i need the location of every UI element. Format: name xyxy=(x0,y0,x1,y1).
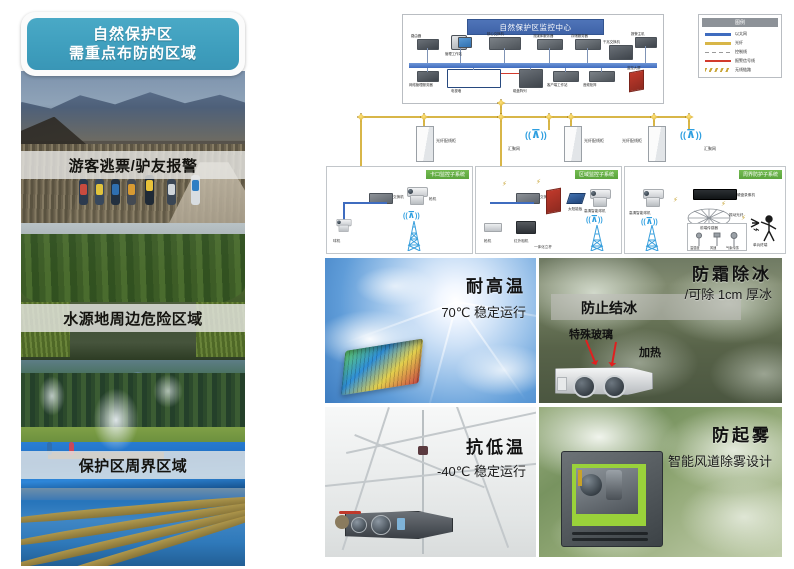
alarm-host-icon xyxy=(635,37,657,48)
hiker-figure xyxy=(79,179,88,205)
wireless-link-icon: ⚡ xyxy=(673,197,678,204)
legend-item: 光纤 xyxy=(705,39,743,47)
device-label: 太阳能板 xyxy=(568,207,582,212)
wireless-link-icon: ⚡ xyxy=(721,201,726,208)
wireless-link-icon: ⚡ xyxy=(741,215,746,222)
feature-title: 防霜除冰 xyxy=(692,260,772,285)
monitor-icon xyxy=(458,37,472,48)
subsystem-header: 区域监控子系统 xyxy=(575,170,618,179)
feature-title: 耐高温 xyxy=(466,272,526,297)
fiber-backbone xyxy=(360,116,548,118)
relay-label: 汇聚网 xyxy=(704,146,716,152)
annotation-anti-icing: 防止结冰 xyxy=(581,298,637,318)
ethernet-link xyxy=(343,202,345,220)
hiker-figure xyxy=(145,175,154,205)
device-label: 电视墙 xyxy=(451,88,461,93)
annotation-special-glass: 特殊玻璃 xyxy=(569,326,613,342)
video-platform-icon xyxy=(609,45,633,60)
solar-panel-icon xyxy=(566,193,586,204)
device-label: 球机 xyxy=(333,239,340,244)
sensor-group-box: 前端传感器 温湿度 风速 气象传感 xyxy=(687,223,747,251)
ethernet-backbone-bar xyxy=(409,63,657,68)
relay-label: 汇聚网 xyxy=(508,146,520,152)
device-label: 交换机 xyxy=(393,195,404,200)
hiker-figure xyxy=(191,175,200,205)
feature-title: 抗低温 xyxy=(466,433,526,458)
solar-mount-icon xyxy=(546,188,561,215)
caption-text: 游客逃票/驴友报警 xyxy=(69,155,198,176)
cloud xyxy=(355,266,435,306)
fiber-cabinet xyxy=(648,126,666,162)
control-line-icon xyxy=(705,52,731,53)
title-line-1: 自然保护区 xyxy=(93,25,173,44)
legend-item: 无线链路 xyxy=(705,66,751,74)
device-label: 网络管理服务器 xyxy=(409,82,433,87)
device-label: 红外相机 xyxy=(514,239,528,244)
ethernet-link xyxy=(490,202,534,204)
fiber-splice-node xyxy=(650,113,659,122)
fiber-splice-node xyxy=(420,113,429,122)
diagram-legend: 图例 以太网 光纤 控制线 报警信号线 xyxy=(698,14,782,78)
legend-header: 图例 xyxy=(702,18,778,27)
device-label: 路由器 xyxy=(411,33,421,38)
insulator xyxy=(418,446,428,455)
tree-layer xyxy=(21,234,245,308)
steam-plume xyxy=(153,374,183,408)
sensor-label: 温湿度 xyxy=(690,245,700,250)
scenario-caption-2: 水源地周边危险区域 xyxy=(21,304,245,332)
media-server-icon xyxy=(537,39,563,50)
steam-plume xyxy=(93,388,139,452)
core-switch-icon xyxy=(489,37,521,50)
caption-text: 水源地周边危险区域 xyxy=(63,308,203,329)
wireless-link-icon: ⚡ xyxy=(502,181,507,188)
feature-title: 防起雾 xyxy=(712,421,772,446)
wireless-link-icon xyxy=(705,68,731,72)
ethernet-line-icon xyxy=(705,33,731,36)
ptz-camera-icon xyxy=(641,189,663,206)
annotation-heating: 加热 xyxy=(639,344,661,360)
wireless-signal-icon: ((⊼)) xyxy=(586,215,603,224)
feature-subtitle: 智能风道除雾设计 xyxy=(668,451,772,470)
feature-panel-anti-frost: 防止结冰 特殊玻璃 加热 防霜除冰 /可除 1cm 厚冰 xyxy=(539,258,782,403)
nvr-icon xyxy=(693,189,737,200)
ethernet-link xyxy=(343,202,387,204)
hiker-figure xyxy=(167,179,176,205)
slide-root: 游客逃票/驴友报警 水源地周边危险区域 保护区周界区域 自然保护区 需重点布防的… xyxy=(0,0,794,569)
feature-panel-anti-fog: 防起雾 智能风道除雾设计 xyxy=(539,407,782,557)
device-label: 监控大屏 xyxy=(627,65,641,70)
title-banner-inner: 自然保护区 需重点布防的区域 xyxy=(27,18,239,70)
device-label: 核心交换机 xyxy=(487,31,504,36)
sensor-group-label: 前端传感器 xyxy=(700,226,718,231)
subsystem-header: 卡口监控子系统 xyxy=(426,170,469,179)
monitoring-center-box: 自然保护区监控中心 路由器 管理工作站 核心交换机 流媒体服务器 存储服务器 xyxy=(402,14,664,104)
fiber-splice-node xyxy=(545,113,554,122)
scenario-column: 游客逃票/驴友报警 水源地周边危险区域 保护区周界区域 自然保护区 需重点布防的… xyxy=(21,8,245,561)
device-label: 枪机 xyxy=(429,197,436,202)
cabinet-label: 光纤配线柜 xyxy=(622,138,642,144)
ptz-camera-icon xyxy=(405,187,427,204)
title-line-2: 需重点布防的区域 xyxy=(69,44,197,63)
scenario-photo-hikers xyxy=(21,71,245,223)
alarm-panel-icon xyxy=(629,70,644,93)
device-label: 客户端工作站 xyxy=(547,82,567,87)
scenario-caption-3: 保护区周界区域 xyxy=(21,451,245,479)
fiber-splice-node xyxy=(357,113,366,122)
fiber-line-icon xyxy=(705,42,731,45)
dome-camera-icon xyxy=(335,219,351,231)
right-column: 自然保护区监控中心 路由器 管理工作站 核心交换机 流媒体服务器 存储服务器 xyxy=(322,6,788,562)
feature-panel-low-temp: 抗低温 -40℃ 稳定运行 xyxy=(325,407,536,557)
device-label: 音频矩阵 xyxy=(583,82,597,87)
legend-label: 报警信号线 xyxy=(735,58,755,64)
subsystem-header: 周界防护子系统 xyxy=(739,170,782,179)
device-label: 单兵终端 xyxy=(753,243,767,248)
legend-label: 以太网 xyxy=(735,31,747,37)
legend-item: 以太网 xyxy=(705,30,747,38)
cabinet-label: 光纤配线柜 xyxy=(584,138,604,144)
legend-label: 光纤 xyxy=(735,40,743,46)
video-wall-icon xyxy=(447,69,501,88)
wireless-signal-icon: ((⊼)) xyxy=(403,211,420,220)
antenna-tower-icon xyxy=(405,221,423,251)
fiber-cabinet xyxy=(416,126,434,162)
network-server-icon xyxy=(417,71,439,82)
router-icon xyxy=(417,39,439,50)
antenna-tower-icon xyxy=(643,225,661,255)
bullet-camera-icon xyxy=(484,223,502,232)
camera-image xyxy=(335,511,453,541)
camera-housing-image xyxy=(555,363,655,397)
wireless-tower-icon: ((⊼)) xyxy=(525,128,547,140)
wireless-tower-icon: ((⊼)) xyxy=(680,128,702,140)
hiker-figure xyxy=(111,179,120,205)
scenario-caption-1: 游客逃票/驴友报警 xyxy=(21,151,245,179)
device-label: 千兆交换机 xyxy=(603,39,620,44)
disk-array-icon xyxy=(519,69,543,88)
legend-label: 控制线 xyxy=(735,49,747,55)
device-label: 硬盘录像机 xyxy=(737,193,755,198)
legend-label: 无线链路 xyxy=(735,67,751,73)
device-label: 磁盘阵列 xyxy=(513,88,527,93)
client-workstation-icon xyxy=(553,71,579,82)
storage-server-icon xyxy=(575,39,601,50)
subsystem-box-area: 区域监控子系统 交换机 枪机 红外相机 太阳能板 一体化立杆 高清智能球机 ((… xyxy=(475,166,622,254)
device-label: 枪机 xyxy=(484,239,491,244)
fiber-splice-node xyxy=(567,113,576,122)
feature-panels: 耐高温 70℃ 稳定运行 防止结冰 特殊玻璃 加热 xyxy=(325,258,785,560)
alarm-line-icon xyxy=(705,60,731,62)
alarm-signal-line xyxy=(501,73,519,74)
wireless-link-icon: ⚡ xyxy=(536,179,541,186)
fiber-splice-node xyxy=(497,113,506,122)
title-banner: 自然保护区 需重点布防的区域 xyxy=(21,12,245,76)
legend-item: 报警信号线 xyxy=(705,57,755,65)
hiker-figure xyxy=(127,179,136,205)
device-label: 管理工作站 xyxy=(445,51,462,56)
steam-plume xyxy=(39,376,65,416)
fiber-splice-node xyxy=(685,113,694,122)
patrol-officer-icon xyxy=(749,213,783,243)
sensor-label: 气象传感 xyxy=(726,245,739,250)
feature-panel-high-temp: 耐高温 70℃ 稳定运行 xyxy=(325,258,536,403)
device-label: 一体化立杆 xyxy=(534,245,552,250)
subsystem-box-checkpoint: 卡口监控子系统 交换机 球机 枪机 ((⊼)) xyxy=(326,166,473,254)
feature-subtitle: 70℃ 稳定运行 xyxy=(441,302,526,321)
camera-enclosure-image xyxy=(561,451,663,547)
antenna-tower-icon xyxy=(588,225,606,255)
audio-matrix-icon xyxy=(589,71,615,82)
scenario-photo-reservoir xyxy=(21,223,245,360)
network-topology-diagram: 自然保护区监控中心 路由器 管理工作站 核心交换机 流媒体服务器 存储服务器 xyxy=(322,6,788,254)
legend-item: 控制线 xyxy=(705,48,747,56)
cabinet-label: 光纤配线柜 xyxy=(436,138,456,144)
device-label: 流媒体服务器 xyxy=(533,33,553,38)
feature-subtitle: /可除 1cm 厚冰 xyxy=(685,284,772,303)
fiber-cabinet xyxy=(564,126,582,162)
scenario-photo-wetland xyxy=(21,488,245,566)
ptz-camera-icon xyxy=(588,189,610,206)
device-label: 存储服务器 xyxy=(571,33,588,38)
thermal-camera-icon xyxy=(516,221,536,234)
device-label: 报警主机 xyxy=(631,31,645,36)
sensor-label: 风速 xyxy=(710,245,716,250)
hiker-figure xyxy=(95,179,104,205)
feature-subtitle: -40℃ 稳定运行 xyxy=(437,461,526,480)
subsystem-box-perimeter: 周界防护子系统 高清智能球机 ((⊼)) 硬盘录像机 xyxy=(624,166,786,254)
caption-text: 保护区周界区域 xyxy=(79,455,188,476)
